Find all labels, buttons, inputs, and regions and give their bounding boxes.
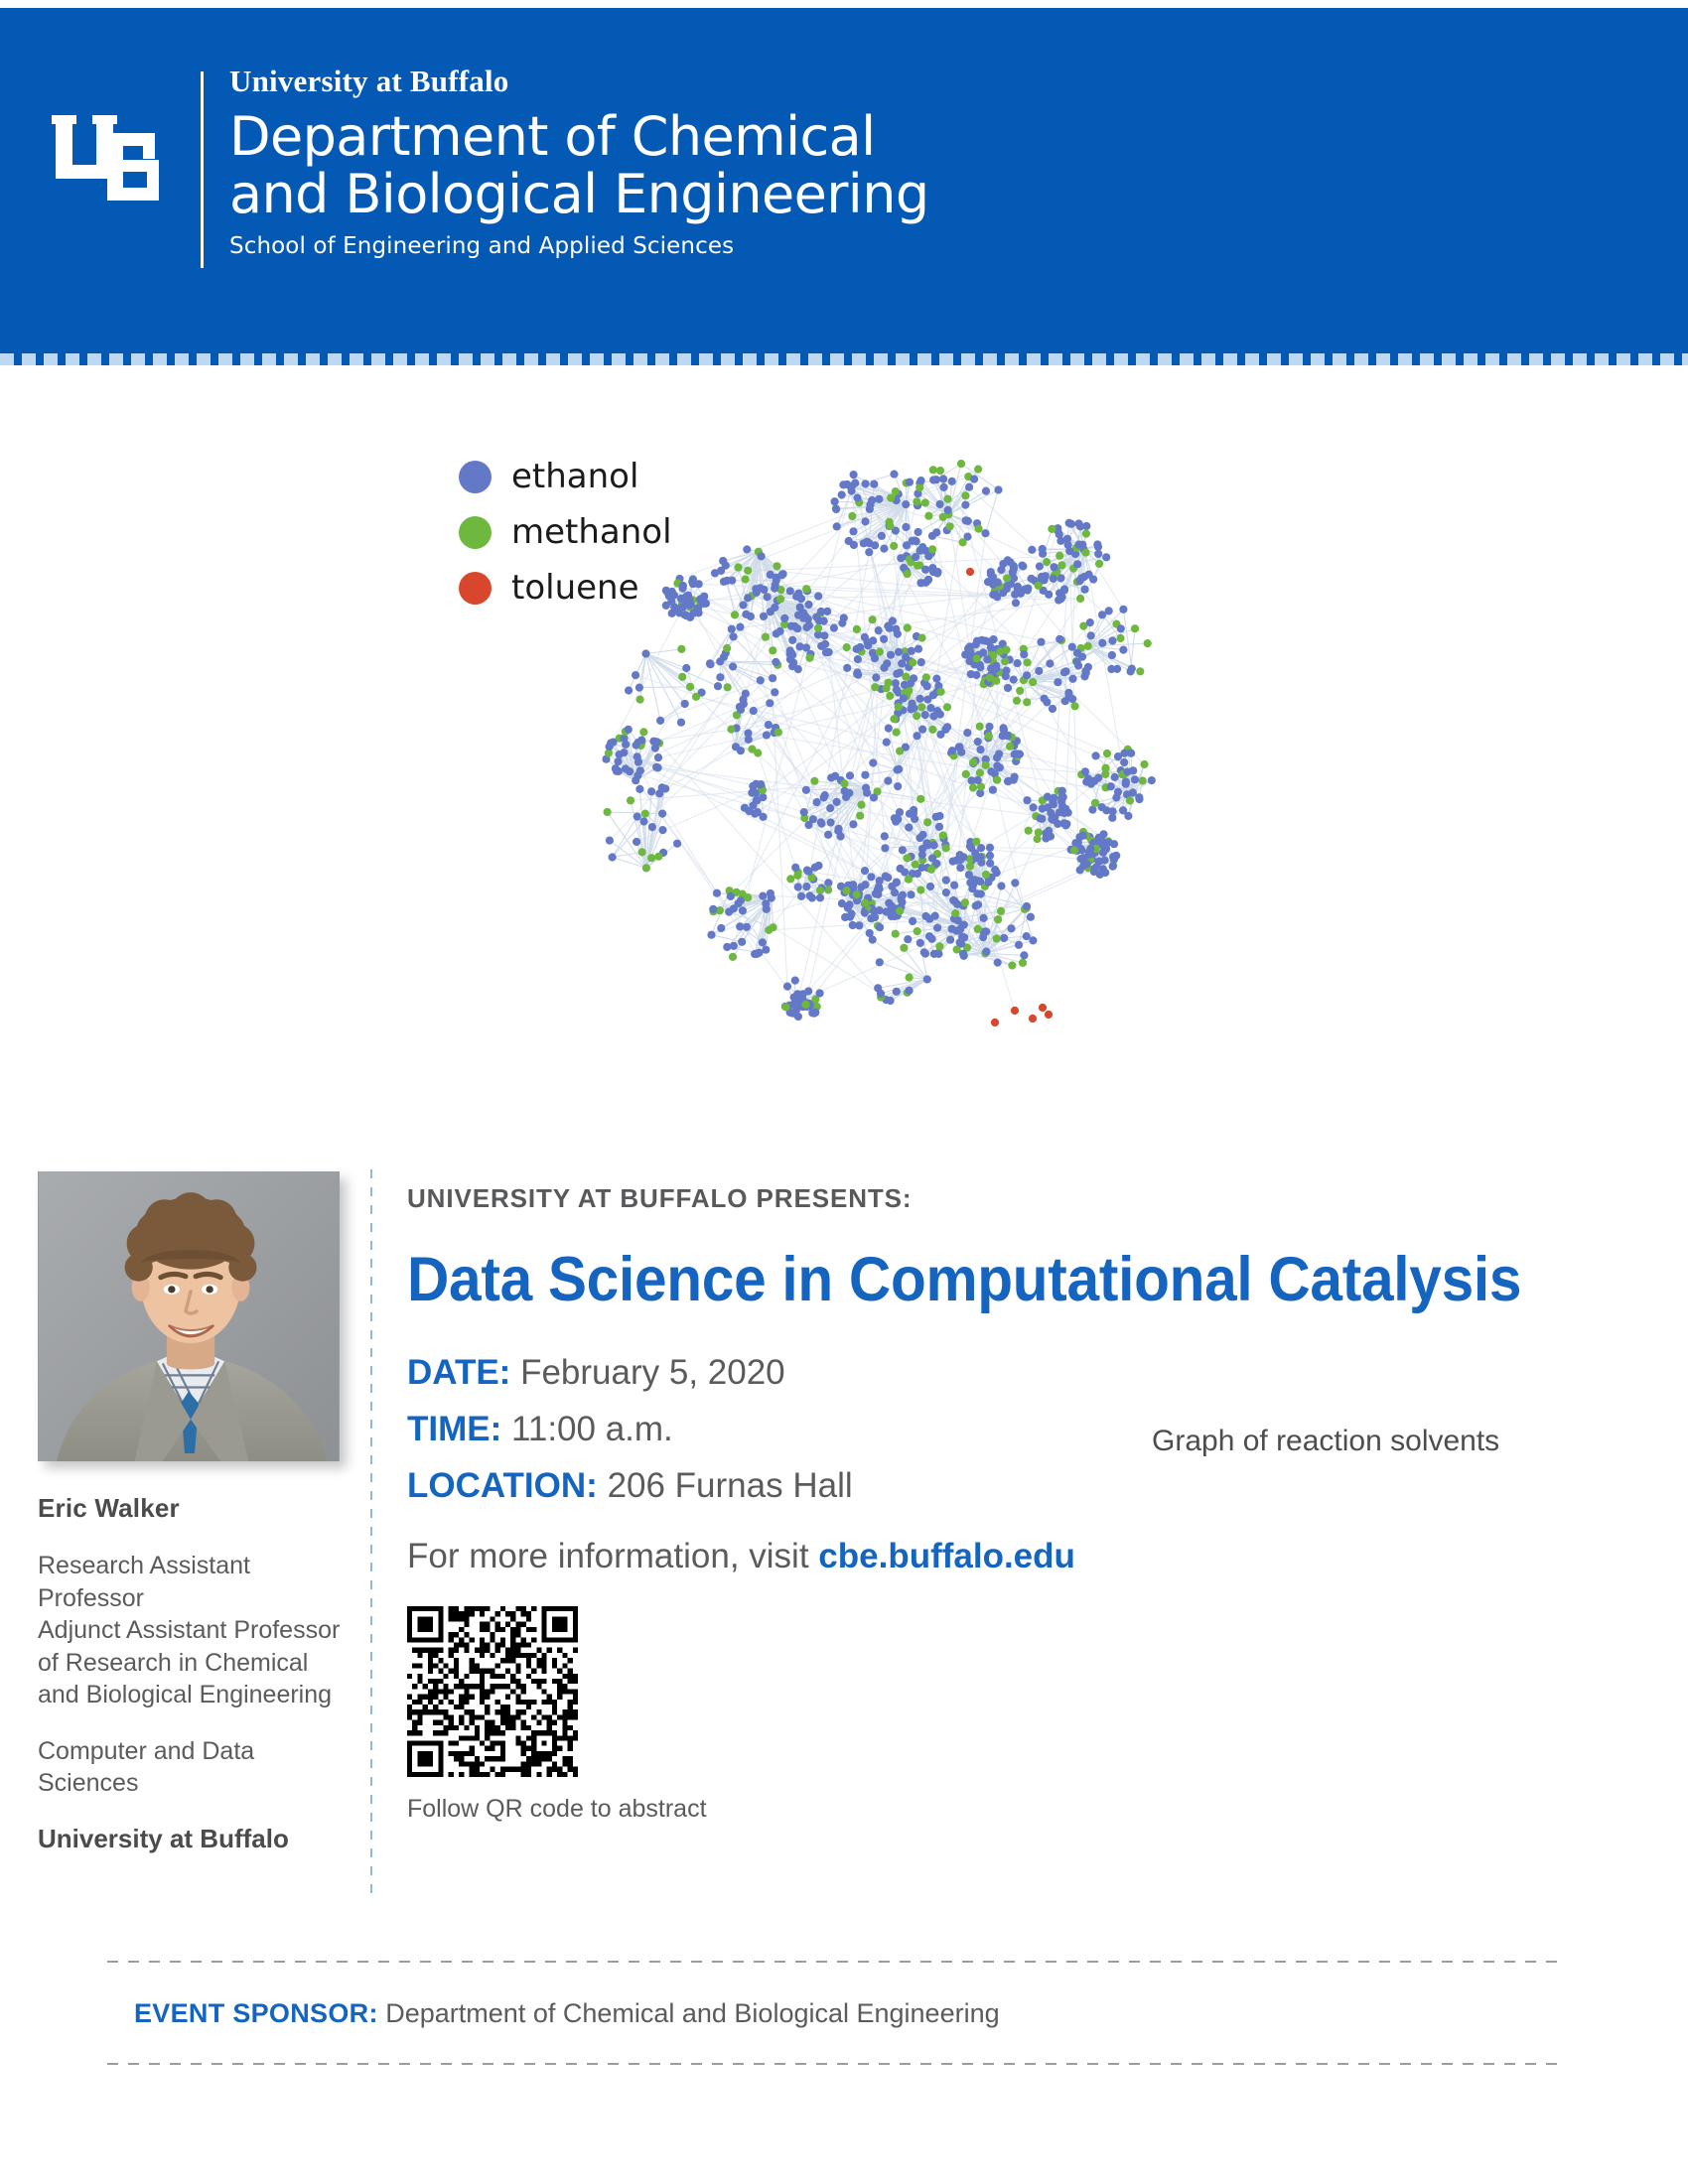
info-prefix: For more information, visit — [407, 1537, 818, 1575]
solvent-graph-figure: ethanol methanol toluene Graph of reacti… — [0, 417, 1688, 1152]
speaker-unit: Computer and Data Sciences — [38, 1735, 352, 1800]
detail-label: DATE: — [407, 1353, 510, 1392]
column-divider — [370, 1169, 372, 1899]
page-footer: EVENT SPONSOR: Department of Chemical an… — [107, 1961, 1567, 2065]
speaker-portrait-photo — [38, 1171, 340, 1461]
brand-department-line2: and Biological Engineering — [229, 166, 929, 223]
detail-value: 206 Furnas Hall — [608, 1466, 853, 1505]
more-information-line: For more information, visit cbe.buffalo.… — [407, 1537, 1599, 1576]
event-sponsor-line: EVENT SPONSOR: Department of Chemical an… — [107, 1963, 1567, 2063]
detail-label: TIME: — [407, 1410, 501, 1448]
ub-brand-lockup: University at Buffalo Department of Chem… — [52, 66, 929, 268]
website-link[interactable]: cbe.buffalo.edu — [818, 1537, 1075, 1575]
detail-label: LOCATION: — [407, 1466, 598, 1505]
speaker-organization: University at Buffalo — [38, 1824, 352, 1854]
legend-swatch-icon — [459, 572, 492, 605]
speaker-title: Research Assistant Professor Adjunct Ass… — [38, 1550, 352, 1711]
footer-bottom-rule — [107, 2063, 1567, 2065]
brand-text-block: University at Buffalo Department of Chem… — [229, 66, 929, 259]
ub-logo-icon — [52, 103, 179, 214]
legend-swatch-icon — [459, 461, 492, 493]
sponsor-value: Department of Chemical and Biological En… — [378, 1998, 1000, 2028]
sponsor-label: EVENT SPONSOR: — [134, 1998, 378, 2028]
brand-department-line1: Department of Chemical — [229, 108, 929, 166]
talk-title: Data Science in Computational Catalysis — [407, 1240, 1562, 1320]
qr-caption: Follow QR code to abstract — [407, 1795, 1599, 1824]
header-dashed-rule — [0, 353, 1688, 365]
brand-school: School of Engineering and Applied Scienc… — [229, 233, 929, 259]
presents-eyebrow: UNIVERSITY AT BUFFALO PRESENTS: — [407, 1183, 1599, 1214]
detail-row-date: DATE: February 5, 2020 — [407, 1352, 1599, 1394]
qr-code-icon[interactable] — [407, 1606, 578, 1777]
detail-value: February 5, 2020 — [520, 1353, 785, 1392]
brand-university: University at Buffalo — [229, 66, 929, 96]
logo-divider-rule — [201, 71, 204, 268]
event-detail-list: DATE: February 5, 2020 TIME: 11:00 a.m. … — [407, 1352, 1599, 1507]
detail-value: 11:00 a.m. — [511, 1410, 673, 1448]
speaker-sidebar: Eric Walker Research Assistant Professor… — [38, 1171, 352, 1854]
event-details-panel: UNIVERSITY AT BUFFALO PRESENTS: Data Sci… — [407, 1161, 1599, 1824]
page-header: University at Buffalo Department of Chem… — [0, 8, 1688, 365]
legend-swatch-icon — [459, 516, 492, 549]
content-area: Eric Walker Research Assistant Professor… — [0, 1161, 1688, 1946]
detail-row-location: LOCATION: 206 Furnas Hall — [407, 1465, 1599, 1507]
detail-row-time: TIME: 11:00 a.m. — [407, 1409, 1599, 1450]
speaker-name: Eric Walker — [38, 1493, 352, 1524]
network-graph-plot — [566, 427, 1221, 1082]
